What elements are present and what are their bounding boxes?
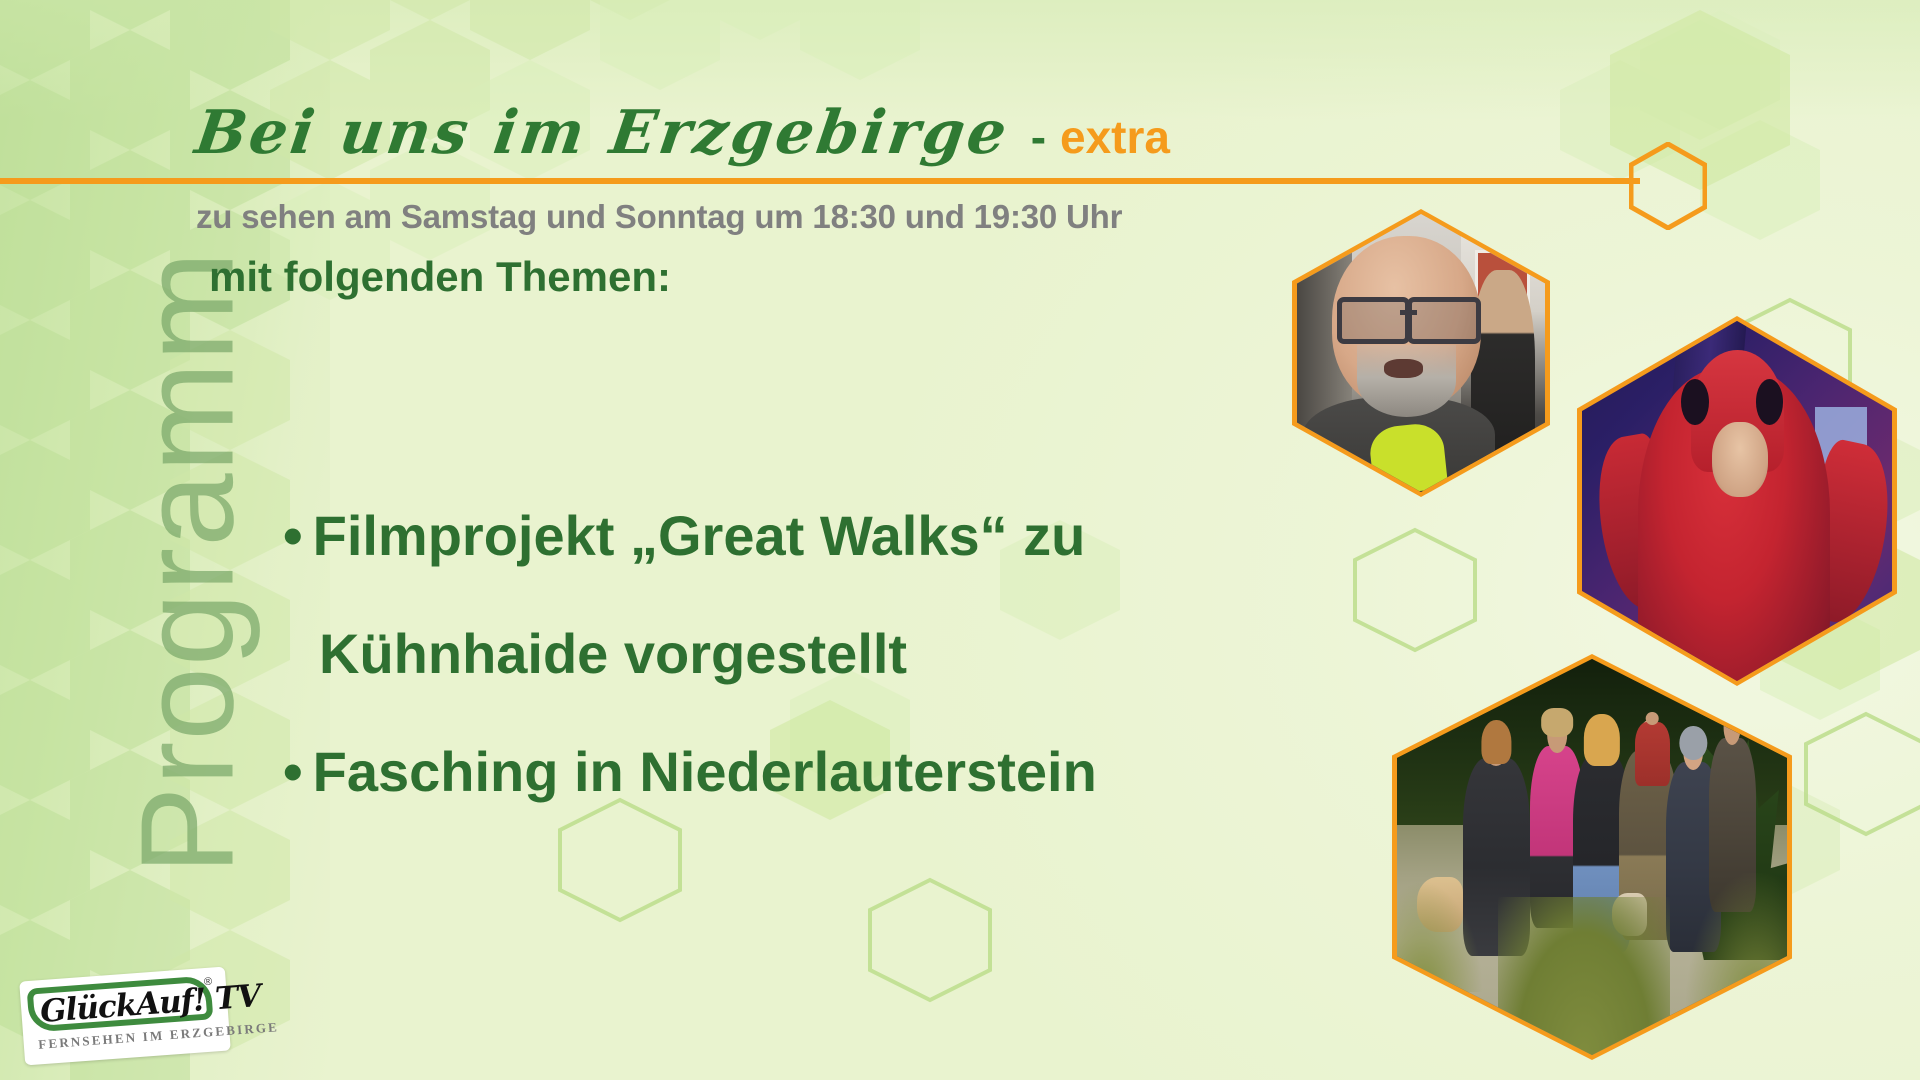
title-extra-part: extra — [1060, 110, 1170, 164]
bullet-icon: • — [283, 477, 303, 595]
topics-list: • Filmprojekt „Great Walks“ zu Kühnhaide… — [283, 477, 1243, 831]
logo-registered-icon: ® — [204, 976, 213, 989]
list-item-continuation: Kühnhaide vorgestellt — [283, 595, 1243, 713]
page-title: Bei uns im Erzgebirge - extra — [196, 98, 1170, 168]
list-item-label: Filmprojekt „Great Walks“ zu — [313, 477, 1086, 595]
list-item: • Filmprojekt „Great Walks“ zu — [283, 477, 1243, 595]
themes-intro-label: mit folgenden Themen: — [209, 253, 671, 301]
vertical-section-label: Programm — [112, 243, 263, 883]
list-item-label-second-line: Kühnhaide vorgestellt — [319, 595, 907, 713]
title-dash: - — [1031, 110, 1046, 164]
slide-canvas: Programm Bei uns im Erzgebirge - extra z… — [0, 0, 1920, 1080]
title-underline-rule — [0, 178, 1640, 184]
list-item-label: Fasching in Niederlauterstein — [313, 713, 1097, 831]
broadcast-time-subtitle: zu sehen am Samstag und Sonntag um 18:30… — [196, 198, 1122, 236]
rule-end-hexagon-icon — [1629, 142, 1707, 230]
title-script-part: Bei uns im Erzgebirge — [191, 98, 1014, 168]
list-item: • Fasching in Niederlauterstein — [283, 713, 1243, 831]
glueckauf-tv-logo[interactable]: GlückAuf! TV ® FERNSEHEN IM ERZGEBIRGE — [22, 974, 228, 1058]
bullet-icon: • — [283, 713, 303, 831]
